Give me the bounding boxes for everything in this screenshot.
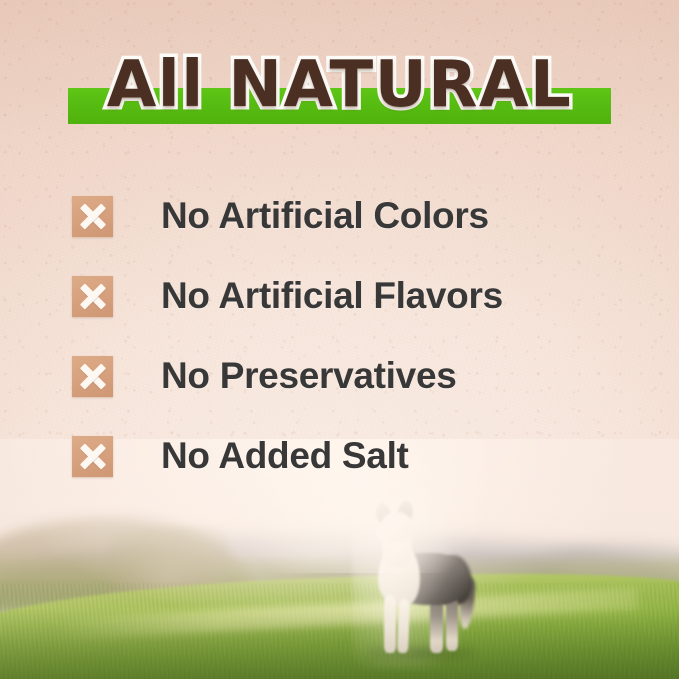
- benefit-label: No Artificial Flavors: [161, 275, 503, 317]
- benefit-row: No Artificial Colors: [72, 176, 632, 256]
- benefit-label: No Preservatives: [161, 355, 457, 397]
- x-mark-icon: [72, 276, 113, 317]
- x-mark-icon: [72, 436, 113, 477]
- poster-title: All NATURAL: [0, 46, 679, 124]
- border-collie-dog: [356, 499, 488, 665]
- benefit-label: No Added Salt: [161, 435, 409, 477]
- benefit-row: No Artificial Flavors: [72, 256, 632, 336]
- dog-front-leg-left: [384, 595, 396, 653]
- benefits-list: No Artificial Colors No Artificial Flavo…: [72, 176, 632, 496]
- x-mark-icon: [72, 356, 113, 397]
- dog-muzzle: [376, 525, 398, 542]
- benefit-row: No Preservatives: [72, 336, 632, 416]
- x-mark-icon: [72, 196, 113, 237]
- all-natural-poster: All NATURAL No Artificial Colors No Arti…: [0, 0, 679, 679]
- dog-front-leg-right: [397, 599, 410, 653]
- benefit-label: No Artificial Colors: [161, 195, 489, 237]
- dog-back-leg-left: [430, 597, 443, 653]
- benefit-row: No Added Salt: [72, 416, 632, 496]
- title-block: All NATURAL: [0, 46, 679, 138]
